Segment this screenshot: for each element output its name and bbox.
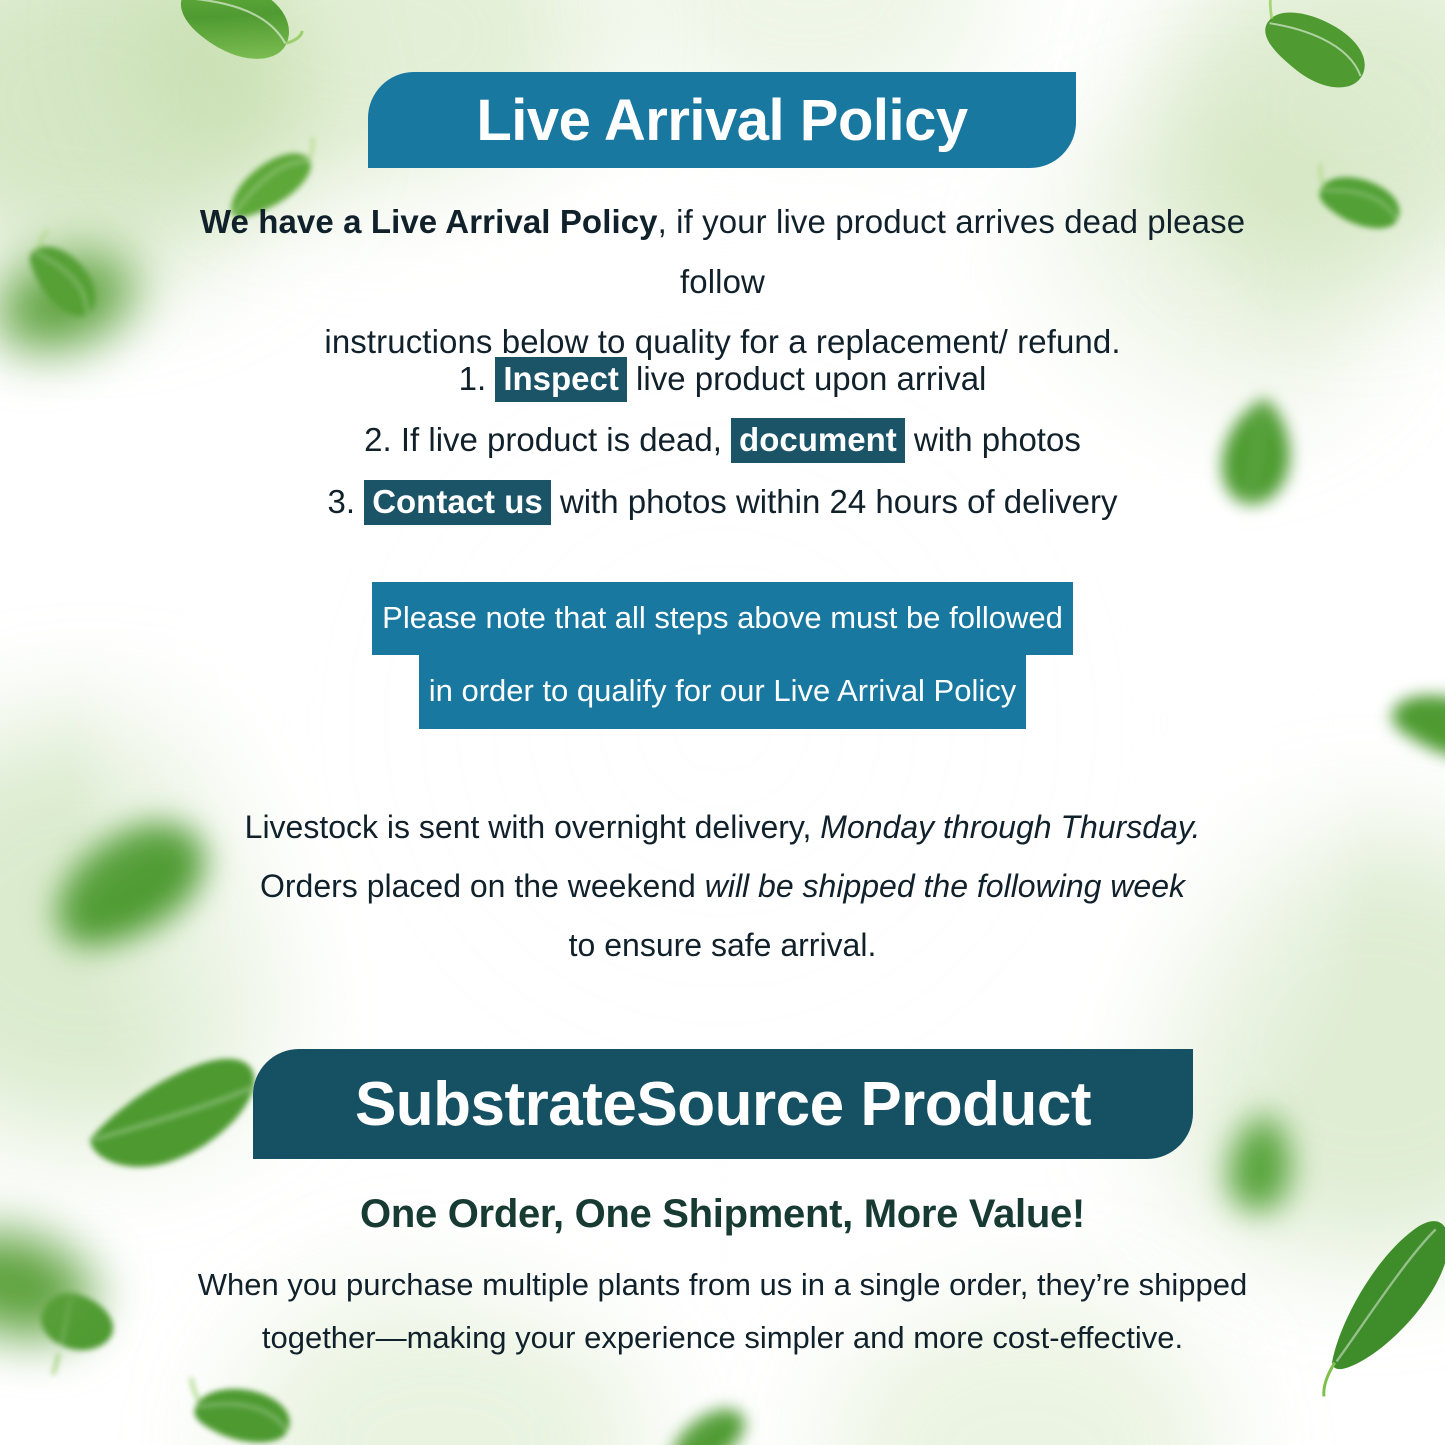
step-text: with photos within 24 hours of delivery — [560, 483, 1118, 520]
step-number: 2. — [364, 421, 392, 458]
step-number: 3. — [327, 483, 355, 520]
intro-line-1: We have a Live Arrival Policy, if your l… — [160, 192, 1285, 312]
policy-note-row: Please note that all steps above must be… — [160, 582, 1285, 655]
step-item: 2. If live product is dead, document wit… — [160, 409, 1285, 470]
step-text: live product upon arrival — [636, 360, 986, 397]
intro-bold-lead: We have a Live Arrival Policy — [200, 203, 658, 240]
outro-paragraph: When you purchase multiple plants from u… — [150, 1258, 1295, 1365]
step-highlight-document: document — [731, 418, 905, 463]
shipping-line-2: Orders placed on the weekend will be shi… — [170, 857, 1275, 916]
shipping-line-2-normal: Orders placed on the weekend — [260, 868, 696, 904]
value-subheading: One Order, One Shipment, More Value! — [160, 1192, 1285, 1237]
policy-note-row: in order to qualify for our Live Arrival… — [160, 655, 1285, 728]
intro-rest: , if your live product arrives dead plea… — [658, 203, 1246, 300]
steps-list: 1. Inspect live product upon arrival 2. … — [160, 348, 1285, 532]
live-arrival-policy-banner: Live Arrival Policy — [368, 72, 1076, 168]
policy-note-line-1: Please note that all steps above must be… — [372, 582, 1073, 655]
shipping-line-3: to ensure safe arrival. — [170, 916, 1275, 975]
outro-line-2: together—making your experience simpler … — [150, 1311, 1295, 1364]
substratesource-product-banner: SubstrateSource Product — [253, 1049, 1193, 1159]
substratesource-product-title: SubstrateSource Product — [355, 1069, 1091, 1140]
step-text-before: If live product is dead, — [401, 421, 722, 458]
policy-note: Please note that all steps above must be… — [160, 582, 1285, 729]
step-highlight-contact-us[interactable]: Contact us — [364, 480, 551, 525]
shipping-line-2-italic: will be shipped the following week — [705, 868, 1185, 904]
shipping-line-1-normal: Livestock is sent with overnight deliver… — [245, 809, 812, 845]
step-highlight-inspect: Inspect — [495, 357, 627, 402]
step-text: with photos — [914, 421, 1081, 458]
shipping-schedule-paragraph: Livestock is sent with overnight deliver… — [170, 798, 1275, 975]
step-item: 3. Contact us with photos within 24 hour… — [160, 471, 1285, 532]
shipping-line-1: Livestock is sent with overnight deliver… — [170, 798, 1275, 857]
step-item: 1. Inspect live product upon arrival — [160, 348, 1285, 409]
shipping-line-1-italic: Monday through Thursday. — [820, 809, 1200, 845]
step-number: 1. — [459, 360, 487, 397]
live-arrival-policy-title: Live Arrival Policy — [476, 87, 967, 154]
policy-note-line-2: in order to qualify for our Live Arrival… — [419, 655, 1027, 728]
live-arrival-policy-infographic: Live Arrival Policy We have a Live Arriv… — [0, 0, 1445, 1445]
outro-line-1: When you purchase multiple plants from u… — [150, 1258, 1295, 1311]
intro-paragraph: We have a Live Arrival Policy, if your l… — [160, 192, 1285, 372]
